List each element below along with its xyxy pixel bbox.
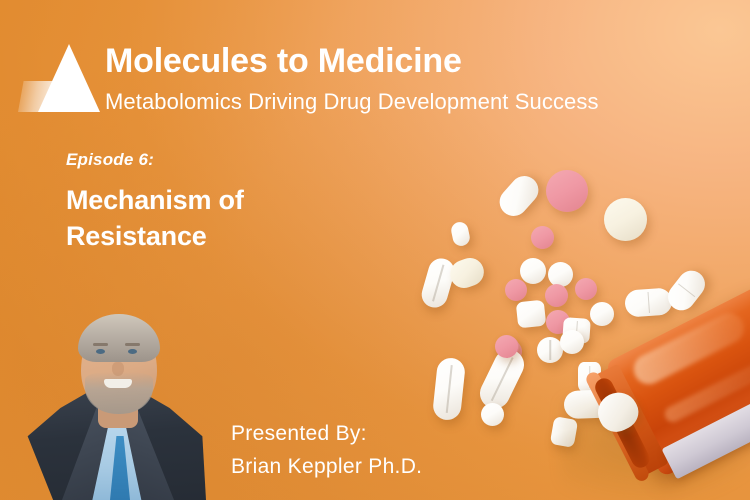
headshot-nose <box>112 362 124 376</box>
pill-round-white-11 <box>481 403 504 426</box>
episode-number-label: Episode 6: <box>66 150 154 170</box>
pill-round-pink-5 <box>575 278 597 300</box>
show-subtitle: Metabolomics Driving Drug Development Su… <box>105 88 599 116</box>
episode-title: Mechanism of Resistance <box>66 182 326 254</box>
pill-score-line <box>446 365 452 412</box>
presenter-headshot <box>18 295 208 500</box>
pill-round-white-5 <box>590 302 614 326</box>
pill-score-line <box>432 265 444 302</box>
pill-round-white-4 <box>548 262 573 287</box>
pill-round-pink-1 <box>546 170 588 212</box>
pill-round-pink-4 <box>545 284 568 307</box>
show-title: Molecules to Medicine <box>105 40 462 82</box>
presented-by-label: Presented By: <box>231 422 367 446</box>
headshot-hair <box>78 314 160 362</box>
logo-chevron-shape <box>38 44 100 112</box>
pill-score-line <box>678 284 695 298</box>
pill-score-line <box>647 292 650 313</box>
pill-round-white-3 <box>520 258 546 284</box>
presenter-name: Brian Keppler Ph.D. <box>231 455 422 479</box>
pill-oval-white-9 <box>560 330 584 354</box>
pill-round-pink-3 <box>505 279 527 301</box>
pill-round-cream-1 <box>604 198 647 241</box>
headshot-eyebrow-left <box>93 343 108 346</box>
headshot-eye-right <box>128 349 137 354</box>
pill-score-line <box>491 357 513 400</box>
headshot-smile <box>104 379 132 388</box>
pill-round-pink-2 <box>531 226 554 249</box>
pill-round-pink-9 <box>495 335 518 358</box>
pill-score-line <box>549 340 551 360</box>
pill-square-white-1 <box>516 300 547 329</box>
podcast-episode-slide: Molecules to Medicine Metabolomics Drivi… <box>0 0 750 500</box>
brand-logo-icon <box>18 44 104 112</box>
headshot-eye-left <box>96 349 105 354</box>
headshot-eyebrow-right <box>125 343 140 346</box>
